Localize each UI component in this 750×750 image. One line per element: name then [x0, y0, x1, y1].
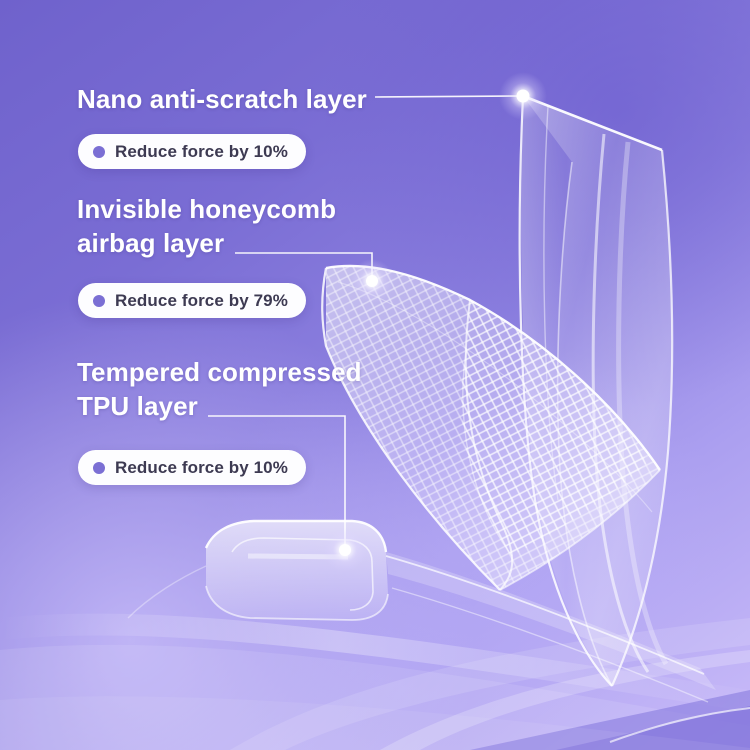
layer-label-honeycomb-airbag: Invisible honeycomb airbag layer [77, 192, 336, 260]
bullet-dot-icon [93, 295, 105, 307]
bullet-dot-icon [93, 146, 105, 158]
badge-text: Reduce force by 10% [115, 458, 288, 478]
layer-label-tempered-tpu: Tempered compressed TPU layer [77, 355, 362, 423]
bullet-dot-icon [93, 462, 105, 474]
bottom-light-bands [0, 614, 750, 750]
layer-label-nano-anti-scratch: Nano anti-scratch layer [77, 82, 367, 116]
badge-tempered-tpu: Reduce force by 10% [78, 450, 306, 485]
badge-nano-anti-scratch: Reduce force by 10% [78, 134, 306, 169]
badge-honeycomb-airbag: Reduce force by 79% [78, 283, 306, 318]
infographic-canvas: Nano anti-scratch layer Reduce force by … [0, 0, 750, 750]
badge-text: Reduce force by 79% [115, 291, 288, 311]
badge-text: Reduce force by 10% [115, 142, 288, 162]
